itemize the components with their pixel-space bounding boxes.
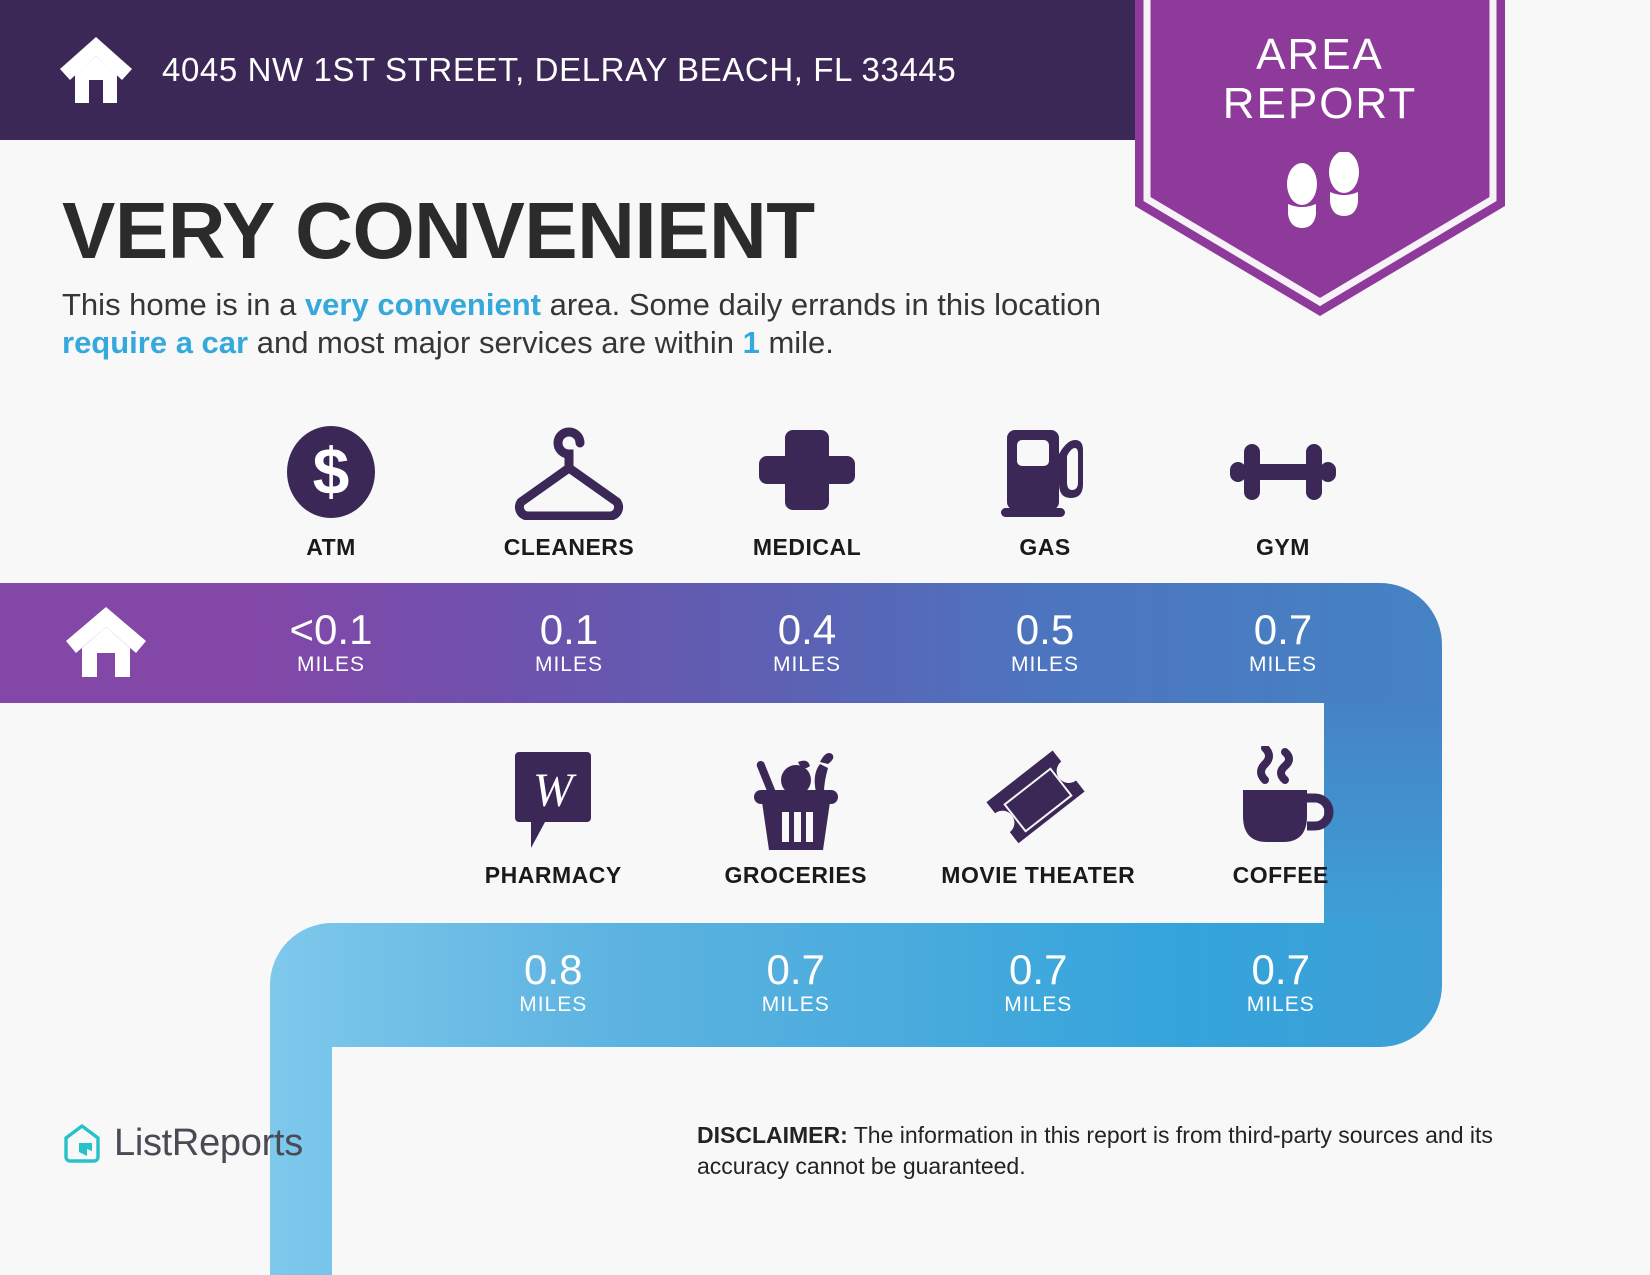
amenity-medical: MEDICAL <box>688 424 926 561</box>
header-bar: 4045 NW 1ST STREET, DELRAY BEACH, FL 334… <box>0 0 1142 140</box>
amenity-movie-theater: MOVIE THEATER <box>917 752 1160 889</box>
distance-value: 0.7 <box>767 947 825 993</box>
distance-cell: 0.7 MILES <box>1160 923 1403 1041</box>
home-icon <box>64 605 148 679</box>
distance-unit: MILES <box>535 653 603 677</box>
listreports-house-icon <box>62 1123 102 1165</box>
distance-unit: MILES <box>773 653 841 677</box>
distance-unit: MILES <box>1004 993 1072 1017</box>
distance-value: 0.7 <box>1009 947 1067 993</box>
amenity-atm: $ ATM <box>212 424 450 561</box>
coffee-cup-icon <box>1225 752 1337 848</box>
distance-cell: 0.7 MILES <box>1164 583 1402 701</box>
distance-cell: 0.7 MILES <box>675 923 918 1041</box>
distance-value: 0.7 <box>1252 947 1310 993</box>
distance-row-top: <0.1 MILES 0.1 MILES 0.4 MILES 0.5 MILES… <box>212 583 1402 701</box>
disclaimer-label: DISCLAIMER: <box>697 1122 848 1148</box>
amenity-pharmacy: W PHARMACY <box>432 752 675 889</box>
amenity-coffee: COFFEE <box>1160 752 1403 889</box>
disclaimer: DISCLAIMER: The information in this repo… <box>697 1120 1509 1182</box>
gas-pump-icon <box>993 424 1097 520</box>
amenity-gym: GYM <box>1164 424 1402 561</box>
distance-unit: MILES <box>762 993 830 1017</box>
distance-value: 0.8 <box>524 947 582 993</box>
distance-cell: 0.8 MILES <box>432 923 675 1041</box>
amenity-icon-row-top: $ ATM CLEANERS MEDICAL <box>212 424 1402 561</box>
clothes-hanger-icon <box>503 424 635 520</box>
distance-cell: 0.1 MILES <box>450 583 688 701</box>
amenity-label: MOVIE THEATER <box>941 862 1135 889</box>
amenity-label: GROCERIES <box>724 862 867 889</box>
page-title: VERY CONVENIENT <box>62 188 815 274</box>
summary-highlight-1: very convenient <box>305 287 541 322</box>
amenity-label: COFFEE <box>1233 862 1329 889</box>
walgreens-w-icon: W <box>505 752 601 848</box>
movie-ticket-icon <box>984 752 1092 848</box>
distance-value: 0.7 <box>1254 607 1312 653</box>
distance-value: <0.1 <box>290 607 373 653</box>
amenity-label: GAS <box>1019 534 1070 561</box>
distance-cell: 0.4 MILES <box>688 583 926 701</box>
svg-text:$: $ <box>313 434 350 508</box>
amenity-label: CLEANERS <box>504 534 635 561</box>
svg-text:W: W <box>533 764 577 817</box>
area-report-infographic: 4045 NW 1ST STREET, DELRAY BEACH, FL 334… <box>0 0 1650 1275</box>
distance-value: 0.4 <box>778 607 836 653</box>
dumbbell-icon <box>1222 424 1344 520</box>
distance-unit: MILES <box>297 653 365 677</box>
home-icon <box>58 35 134 105</box>
summary-highlight-2: require a car <box>62 325 248 360</box>
distance-cell: <0.1 MILES <box>212 583 450 701</box>
property-address: 4045 NW 1ST STREET, DELRAY BEACH, FL 334… <box>162 51 956 89</box>
listreports-logo: ListReports <box>62 1122 303 1165</box>
summary-part-4: mile. <box>760 325 834 360</box>
amenity-label: PHARMACY <box>485 862 622 889</box>
area-report-badge: AREA REPORT <box>1135 0 1505 316</box>
dollar-coin-icon: $ <box>283 424 379 520</box>
distance-cell: 0.7 MILES <box>917 923 1160 1041</box>
summary-text: This home is in a very convenient area. … <box>62 286 1117 362</box>
home-marker <box>0 583 212 701</box>
amenity-label: MEDICAL <box>753 534 861 561</box>
distance-row-bottom: 0.8 MILES 0.7 MILES 0.7 MILES 0.7 MILES <box>432 923 1402 1041</box>
amenity-cleaners: CLEANERS <box>450 424 688 561</box>
amenity-label: GYM <box>1256 534 1310 561</box>
summary-part-2: area. Some daily errands in this locatio… <box>541 287 1101 322</box>
distance-value: 0.5 <box>1016 607 1074 653</box>
distance-unit: MILES <box>1249 653 1317 677</box>
distance-value: 0.1 <box>540 607 598 653</box>
amenity-gas: GAS <box>926 424 1164 561</box>
summary-part-3: and most major services are within <box>248 325 742 360</box>
summary-highlight-3: 1 <box>743 325 760 360</box>
badge-shape <box>1135 0 1505 316</box>
medical-cross-icon <box>759 424 855 520</box>
distance-unit: MILES <box>1011 653 1079 677</box>
amenity-groceries: GROCERIES <box>675 752 918 889</box>
distance-unit: MILES <box>519 993 587 1017</box>
distance-cell: 0.5 MILES <box>926 583 1164 701</box>
listreports-wordmark: ListReports <box>114 1122 303 1165</box>
amenity-label: ATM <box>306 534 356 561</box>
amenity-icon-row-bottom: W PHARMACY GROCERIE <box>432 752 1402 889</box>
distance-unit: MILES <box>1247 993 1315 1017</box>
grocery-basket-icon <box>740 752 852 848</box>
summary-part-1: This home is in a <box>62 287 305 322</box>
